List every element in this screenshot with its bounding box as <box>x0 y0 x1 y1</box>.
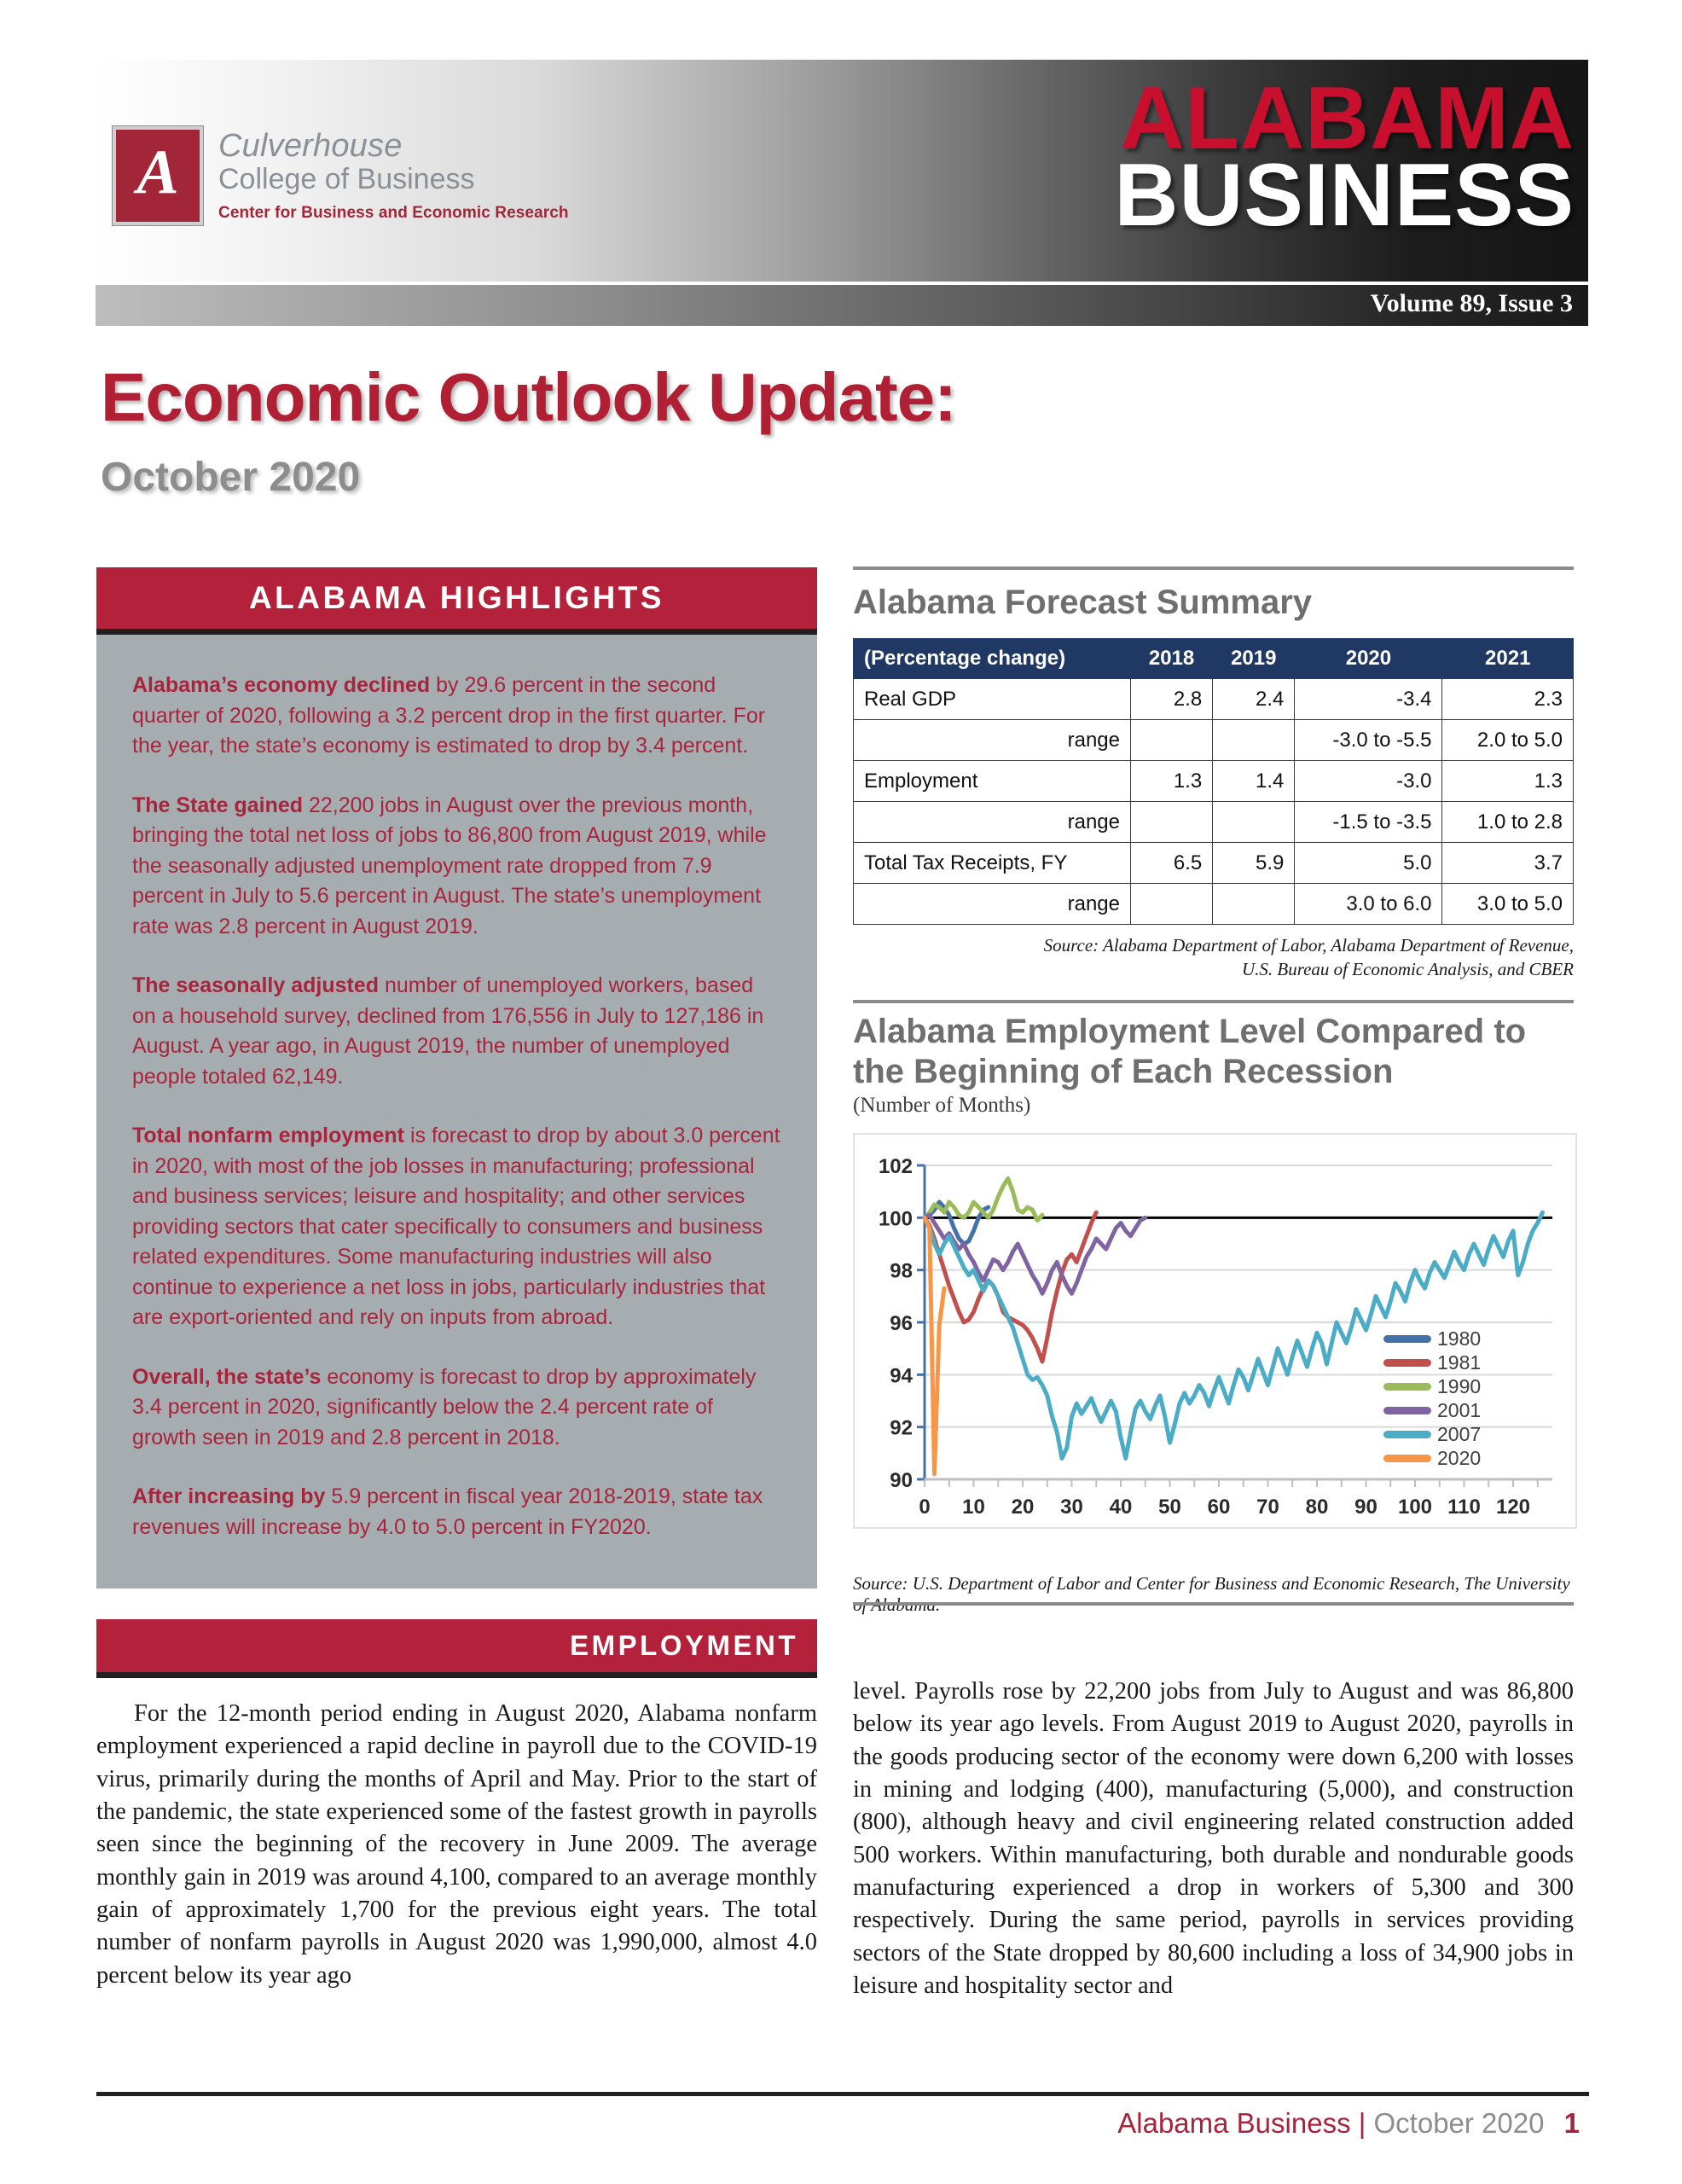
footer-rule <box>96 2092 1589 2096</box>
x-axis-tick-label: 70 <box>1256 1496 1279 1519</box>
table-cell-value: 2.4 <box>1213 679 1295 720</box>
table-row: range3.0 to 6.03.0 to 5.0 <box>854 884 1574 925</box>
table-cell-value: -3.4 <box>1295 679 1442 720</box>
chart-title: Alabama Employment Level Compared to the… <box>853 1012 1578 1092</box>
volume-bar: Volume 89, Issue 3 <box>96 285 1588 326</box>
highlight-lead: Alabama’s economy declined <box>132 673 430 697</box>
highlight-lead: After increasing by <box>132 1484 325 1508</box>
y-axis-tick-label: 100 <box>879 1207 913 1230</box>
forecast-source-line-2: U.S. Bureau of Economic Analysis, and CB… <box>853 958 1574 982</box>
x-axis-tick-label: 100 <box>1398 1496 1432 1519</box>
table-cell-row-label: Total Tax Receipts, FY <box>854 843 1131 884</box>
table-cell-value <box>1131 884 1213 925</box>
highlight-paragraph: Overall, the state’s economy is forecast… <box>132 1362 781 1454</box>
x-axis-tick-label: 120 <box>1496 1496 1530 1519</box>
legend-color-swatch <box>1383 1335 1431 1343</box>
x-axis-tick-label: 60 <box>1208 1496 1231 1519</box>
table-cell-range-label: range <box>854 802 1131 843</box>
y-axis-tick-label: 98 <box>890 1260 913 1283</box>
table-cell-value: -1.5 to -3.5 <box>1295 802 1442 843</box>
table-header-row: (Percentage change)2018201920202021 <box>854 639 1574 679</box>
table-column-header: 2020 <box>1295 639 1442 679</box>
page-subtitle: October 2020 <box>101 454 360 501</box>
x-axis-tick-label: 80 <box>1306 1496 1329 1519</box>
legend-item: 2001 <box>1383 1398 1528 1422</box>
table-cell-value: 6.5 <box>1131 843 1213 884</box>
highlight-paragraph: Total nonfarm employment is forecast to … <box>132 1121 781 1333</box>
forecast-source-line-1: Source: Alabama Department of Labor, Ala… <box>853 934 1574 958</box>
divider-rule-top <box>853 566 1574 570</box>
highlights-heading-label: ALABAMA HIGHLIGHTS <box>249 580 664 616</box>
table-cell-value: 1.0 to 2.8 <box>1442 802 1574 843</box>
culverhouse-logo: A Culverhouse College of Business Center… <box>113 126 569 225</box>
logo-text-block: Culverhouse College of Business Center f… <box>218 126 569 223</box>
divider-rule-bottom <box>853 1602 1574 1606</box>
y-axis-tick-label: 92 <box>890 1417 913 1440</box>
chart-subtitle: (Number of Months) <box>853 1094 1030 1118</box>
table-cell-value <box>1213 802 1295 843</box>
table-cell-value <box>1131 720 1213 761</box>
table-cell-row-label: Employment <box>854 761 1131 802</box>
table-cell-value: 1.3 <box>1442 761 1574 802</box>
chart-legend: 198019811990200120072020 <box>1383 1327 1528 1470</box>
body-paragraph-left: For the 12-month period ending in August… <box>96 1698 817 1992</box>
x-axis-tick-label: 10 <box>962 1496 985 1519</box>
table-cell-value <box>1131 802 1213 843</box>
legend-color-swatch <box>1383 1455 1431 1462</box>
legend-color-swatch <box>1383 1383 1431 1391</box>
y-axis-tick-label: 96 <box>890 1312 913 1335</box>
body-column-right: level. Payrolls rose by 22,200 jobs from… <box>853 1676 1574 2002</box>
x-axis-tick-label: 50 <box>1158 1496 1181 1519</box>
divider-rule-middle <box>853 1000 1574 1003</box>
legend-item: 1981 <box>1383 1350 1528 1374</box>
table-cell-range-label: range <box>854 720 1131 761</box>
x-axis-tick-label: 40 <box>1110 1496 1133 1519</box>
table-cell-value: -3.0 to -5.5 <box>1295 720 1442 761</box>
masthead: A Culverhouse College of Business Center… <box>96 60 1588 282</box>
body-paragraph-right: level. Payrolls rose by 22,200 jobs from… <box>853 1676 1574 2002</box>
body-column-left: For the 12-month period ending in August… <box>96 1698 817 1992</box>
highlight-paragraph: Alabama’s economy declined by 29.6 perce… <box>132 671 781 762</box>
highlight-lead: Total nonfarm employment <box>132 1124 404 1147</box>
alabama-highlights-box: ALABAMA HIGHLIGHTS Alabama’s economy dec… <box>96 567 817 1589</box>
table-cell-value: 3.7 <box>1442 843 1574 884</box>
footer-issue: October 2020 <box>1374 2107 1545 2139</box>
y-axis-tick-label: 90 <box>890 1469 913 1492</box>
table-column-header: 2021 <box>1442 639 1574 679</box>
legend-label: 1980 <box>1437 1327 1481 1350</box>
table-column-header: 2019 <box>1213 639 1295 679</box>
table-cell-value: 1.4 <box>1213 761 1295 802</box>
table-cell-value: 5.9 <box>1213 843 1295 884</box>
footer-page-number: 1 <box>1564 2107 1580 2139</box>
table-cell-value <box>1213 720 1295 761</box>
table-column-header: 2018 <box>1131 639 1213 679</box>
page-title: Economic Outlook Update: <box>101 358 956 437</box>
legend-label: 1981 <box>1437 1351 1481 1374</box>
table-cell-value: 2.3 <box>1442 679 1574 720</box>
legend-color-swatch <box>1383 1431 1431 1438</box>
employment-heading-label: EMPLOYMENT <box>570 1629 798 1662</box>
page-root: A Culverhouse College of Business Center… <box>0 0 1682 2184</box>
table-cell-range-label: range <box>854 884 1131 925</box>
page-footer: Alabama Business | October 2020 1 <box>1117 2107 1580 2140</box>
masthead-title: ALABAMA BUSINESS <box>1114 78 1575 236</box>
alabama-a-letter: A <box>136 141 178 204</box>
legend-color-swatch <box>1383 1359 1431 1367</box>
alabama-a-icon: A <box>113 126 203 225</box>
legend-label: 2020 <box>1437 1447 1481 1470</box>
forecast-table-title: Alabama Forecast Summary <box>853 584 1312 622</box>
highlight-paragraph: The seasonally adjusted number of unempl… <box>132 971 781 1092</box>
legend-item: 1990 <box>1383 1374 1528 1398</box>
legend-item: 2020 <box>1383 1446 1528 1470</box>
legend-item: 2007 <box>1383 1422 1528 1446</box>
table-cell-row-label: Real GDP <box>854 679 1131 720</box>
table-cell-value: 3.0 to 6.0 <box>1295 884 1442 925</box>
table-column-header: (Percentage change) <box>854 639 1131 679</box>
masthead-title-business: BUSINESS <box>1114 155 1575 237</box>
chart-line-1990 <box>925 1178 1042 1220</box>
forecast-table-source: Source: Alabama Department of Labor, Ala… <box>853 934 1574 981</box>
logo-line-2: College of Business <box>218 163 569 195</box>
table-cell-value: 2.0 to 5.0 <box>1442 720 1574 761</box>
legend-label: 2007 <box>1437 1423 1481 1446</box>
x-axis-tick-label: 30 <box>1060 1496 1083 1519</box>
table-cell-value: 5.0 <box>1295 843 1442 884</box>
table-row: Total Tax Receipts, FY6.55.95.03.7 <box>854 843 1574 884</box>
highlight-rest: is forecast to drop by about 3.0 percent… <box>132 1124 780 1329</box>
x-axis-tick-label: 0 <box>919 1496 930 1519</box>
table-cell-value: 3.0 to 5.0 <box>1442 884 1574 925</box>
legend-label: 2001 <box>1437 1399 1481 1422</box>
table-row: range-3.0 to -5.52.0 to 5.0 <box>854 720 1574 761</box>
table-cell-value: 1.3 <box>1131 761 1213 802</box>
legend-color-swatch <box>1383 1407 1431 1414</box>
highlight-paragraph: After increasing by 5.9 percent in fisca… <box>132 1482 781 1542</box>
x-axis-tick-label: 20 <box>1012 1496 1035 1519</box>
highlight-lead: The seasonally adjusted <box>132 973 379 997</box>
table-cell-value: -3.0 <box>1295 761 1442 802</box>
highlight-lead: The State gained <box>132 793 303 817</box>
forecast-summary-table: (Percentage change)2018201920202021 Real… <box>853 638 1574 925</box>
highlight-lead: Overall, the state’s <box>132 1365 321 1389</box>
highlights-header: ALABAMA HIGHLIGHTS <box>96 567 817 635</box>
table-row: Real GDP2.82.4-3.42.3 <box>854 679 1574 720</box>
table-row: range-1.5 to -3.51.0 to 2.8 <box>854 802 1574 843</box>
footer-publication: Alabama Business <box>1117 2107 1350 2139</box>
x-axis-tick-label: 110 <box>1447 1496 1481 1519</box>
employment-header: EMPLOYMENT <box>96 1619 817 1678</box>
logo-line-3: Center for Business and Economic Researc… <box>218 204 569 223</box>
logo-line-1: Culverhouse <box>218 130 569 163</box>
y-axis-tick-label: 94 <box>890 1364 913 1387</box>
table-cell-value <box>1213 884 1295 925</box>
highlights-body: Alabama’s economy declined by 29.6 perce… <box>96 635 817 1589</box>
x-axis-tick-label: 90 <box>1354 1496 1377 1519</box>
volume-issue-label: Volume 89, Issue 3 <box>1371 289 1573 318</box>
legend-item: 1980 <box>1383 1327 1528 1350</box>
footer-separator: | <box>1359 2107 1366 2139</box>
y-axis-tick-label: 102 <box>879 1155 913 1178</box>
legend-label: 1990 <box>1437 1375 1481 1398</box>
table-body: Real GDP2.82.4-3.42.3range-3.0 to -5.52.… <box>854 679 1574 925</box>
chart-source: Source: U.S. Department of Labor and Cen… <box>853 1573 1586 1616</box>
table-cell-value: 2.8 <box>1131 679 1213 720</box>
table-row: Employment1.31.4-3.01.3 <box>854 761 1574 802</box>
highlight-paragraph: The State gained 22,200 jobs in August o… <box>132 791 781 943</box>
